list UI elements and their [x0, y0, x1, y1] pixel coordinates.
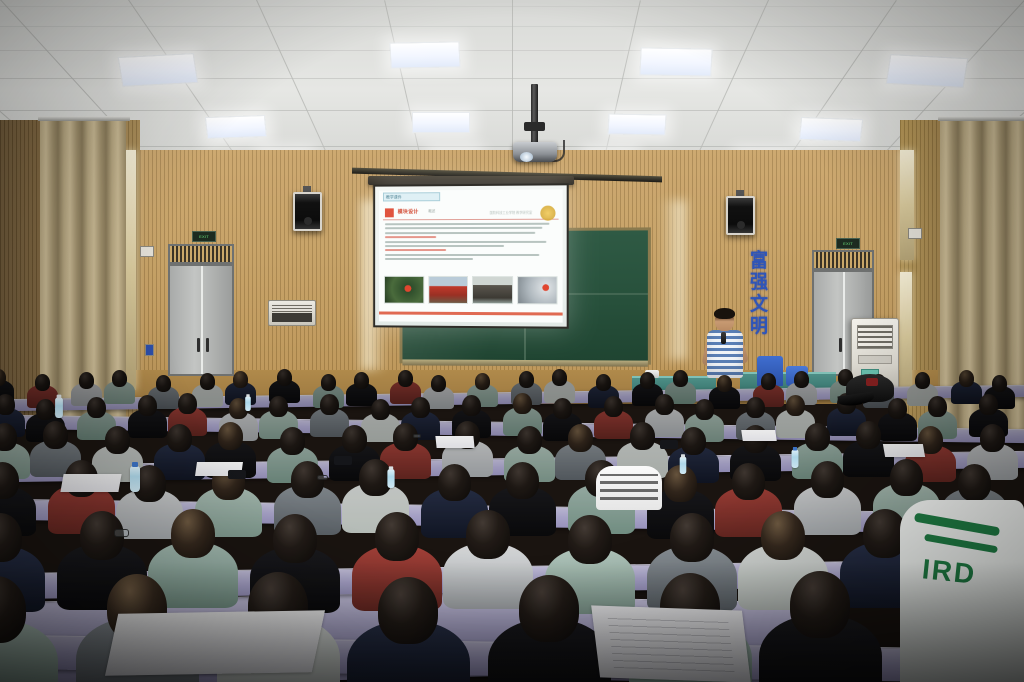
- door-right-transom: [812, 250, 874, 270]
- slide-footer-bar: [379, 311, 563, 315]
- wall-notice-left: [145, 344, 154, 356]
- student-head: [200, 373, 215, 390]
- phone-icon[interactable]: [660, 440, 678, 449]
- projector-lens-icon: [520, 152, 533, 162]
- slide-content: 教学课件 模块设计 概述 国防科技工业学院 教学研究室: [379, 189, 563, 322]
- student-head: [517, 426, 542, 454]
- projector-bracket: [524, 122, 545, 131]
- wall-control-left[interactable]: [140, 246, 154, 257]
- student-head: [979, 394, 998, 415]
- microphone-icon: [721, 332, 726, 344]
- student-head: [732, 463, 765, 500]
- student-head: [411, 397, 430, 418]
- wall-ac-panel: [268, 300, 316, 326]
- student-head: [375, 512, 419, 561]
- student-head: [604, 396, 623, 417]
- calligraphy-char-3: 文: [750, 296, 768, 315]
- curtain-rod-right: [938, 116, 1024, 121]
- speaker-right-icon: [726, 196, 755, 235]
- student-head: [552, 369, 567, 386]
- student-head: [811, 461, 844, 498]
- student-head: [277, 369, 292, 386]
- door-left-transom: [168, 244, 234, 264]
- student-head: [519, 575, 579, 642]
- school-emblem-icon: [540, 206, 555, 221]
- eyeglasses-icon: [114, 529, 129, 536]
- student-head: [513, 393, 532, 414]
- eyeglasses-icon: [413, 434, 422, 438]
- projector-mount-pole: [531, 84, 538, 146]
- water-bottle[interactable]: [792, 450, 799, 468]
- student-head: [462, 395, 481, 416]
- ceiling-light-8: [799, 117, 863, 142]
- student-head: [670, 513, 714, 562]
- student-head: [915, 372, 930, 389]
- student-head: [218, 422, 243, 450]
- student-head: [233, 371, 248, 388]
- student-head: [890, 459, 923, 496]
- slide-text-block: [385, 223, 557, 263]
- student-head: [431, 375, 446, 392]
- student-head: [371, 399, 390, 420]
- ceiling-light-4: [886, 54, 969, 88]
- slide-header: 模块设计 概述 国防科技工业学院 教学研究室: [383, 206, 559, 221]
- window-strip-right-upper: [900, 150, 914, 260]
- slide-title: 模块设计: [398, 208, 419, 215]
- exit-sign-right-label: EXIT: [843, 241, 853, 246]
- student-head: [36, 399, 55, 420]
- student-head: [87, 397, 106, 418]
- ceiling-light-2: [389, 41, 460, 68]
- phone-icon[interactable]: [334, 456, 352, 465]
- student-head: [43, 421, 68, 449]
- student-head: [553, 398, 572, 419]
- student-black-cap-logo: [866, 378, 878, 386]
- student-head: [888, 398, 907, 419]
- student-head: [269, 396, 288, 417]
- student-head: [596, 374, 611, 391]
- student-head: [673, 370, 688, 387]
- wall-calligraphy: 富强文明: [744, 252, 774, 336]
- student-head: [992, 375, 1007, 392]
- student-head: [0, 394, 15, 415]
- ceiling-light-3: [639, 47, 712, 76]
- student-head: [167, 424, 192, 452]
- student-head: [105, 426, 130, 454]
- student-head: [717, 375, 732, 392]
- handwriting-lines: [608, 616, 735, 672]
- jersey-text: IRD: [920, 553, 977, 590]
- student-head: [354, 372, 369, 389]
- student-head: [378, 577, 438, 644]
- student-head: [79, 372, 94, 389]
- student-head: [640, 372, 655, 389]
- slide-subtitle: 概述: [428, 209, 435, 214]
- water-bottle[interactable]: [245, 396, 251, 411]
- slide-image-strip: [384, 276, 558, 305]
- calligraphy-char-1: 富: [750, 252, 768, 271]
- wall-light-glow-right: [660, 200, 686, 360]
- slide-tab-label: 教学课件: [384, 193, 439, 201]
- paper-sheet[interactable]: [435, 436, 474, 448]
- student-head: [695, 399, 714, 420]
- student-head: [280, 427, 305, 455]
- water-bottle[interactable]: [680, 457, 687, 474]
- ceiling-light-1: [118, 53, 199, 87]
- water-bottle[interactable]: [55, 398, 63, 418]
- student-head: [958, 464, 991, 501]
- calligraphy-char-2: 强: [750, 274, 768, 293]
- projection-screen[interactable]: 教学课件 模块设计 概述 国防科技工业学院 教学研究室: [373, 183, 569, 328]
- slide-image-1: [384, 276, 424, 304]
- student-head: [475, 373, 490, 390]
- student-head: [519, 371, 534, 388]
- paper-sheet[interactable]: [60, 474, 121, 492]
- student-head: [156, 375, 171, 392]
- student-head: [568, 515, 612, 564]
- student-head: [466, 510, 510, 559]
- paper-sheet[interactable]: [741, 430, 777, 441]
- student-head: [35, 374, 50, 391]
- student-head: [138, 395, 157, 416]
- slide-tab: 教学课件: [383, 192, 440, 201]
- student-head: [568, 424, 593, 452]
- student-head: [506, 462, 539, 499]
- window-strip-left: [126, 150, 136, 390]
- student-head: [320, 394, 339, 415]
- student-graphic-tee: [596, 466, 662, 510]
- student-head: [761, 511, 805, 560]
- student-head: [630, 422, 655, 450]
- eyeglasses-icon: [317, 475, 328, 480]
- speaker-left-icon: [293, 192, 322, 231]
- slide-bullet-icon: [385, 208, 394, 217]
- lecturer-hair: [714, 308, 735, 319]
- exit-sign-left: EXIT: [192, 231, 216, 242]
- student-head: [794, 371, 809, 388]
- student-head: [805, 423, 830, 451]
- student-head: [171, 509, 215, 558]
- student-head: [398, 370, 413, 387]
- water-bottle[interactable]: [130, 466, 140, 492]
- slide-image-3: [472, 276, 513, 304]
- ceiling-light-5: [205, 115, 267, 139]
- student-head: [856, 421, 881, 449]
- ceiling-light-6: [412, 112, 470, 133]
- phone-icon[interactable]: [228, 470, 246, 479]
- paper-blank-sheet[interactable]: [105, 610, 325, 676]
- student-head: [438, 464, 471, 501]
- calligraphy-char-4: 明: [750, 318, 768, 337]
- student-head: [178, 393, 197, 414]
- exit-sign-left-label: EXIT: [199, 234, 209, 239]
- student-head: [273, 514, 317, 563]
- ceiling-light-7: [607, 114, 666, 136]
- student-head: [790, 571, 850, 638]
- student-head: [655, 394, 674, 415]
- paper-sheet[interactable]: [883, 444, 925, 457]
- student-head: [980, 424, 1005, 452]
- slide-header-right: 国防科技工业学院 教学研究室: [490, 210, 533, 215]
- student-head: [681, 427, 706, 455]
- slide-image-4: [517, 276, 558, 304]
- student-head: [342, 425, 367, 453]
- student-head: [112, 370, 127, 387]
- paper-handwritten-sheet[interactable]: [591, 605, 751, 682]
- student-head: [959, 370, 974, 387]
- wall-control-right[interactable]: [908, 228, 922, 239]
- lecture-hall-photo: 教学课件 模块设计 概述 国防科技工业学院 教学研究室: [0, 0, 1024, 682]
- student-head: [321, 374, 336, 391]
- student-head: [786, 395, 805, 416]
- student-head: [746, 397, 765, 418]
- water-bottle[interactable]: [387, 469, 394, 488]
- student-head: [928, 396, 947, 417]
- student-head: [761, 373, 776, 390]
- door-left[interactable]: [168, 264, 234, 376]
- slide-image-2: [428, 276, 468, 304]
- curtain-rod-left: [38, 116, 130, 121]
- exit-sign-right: EXIT: [836, 238, 860, 249]
